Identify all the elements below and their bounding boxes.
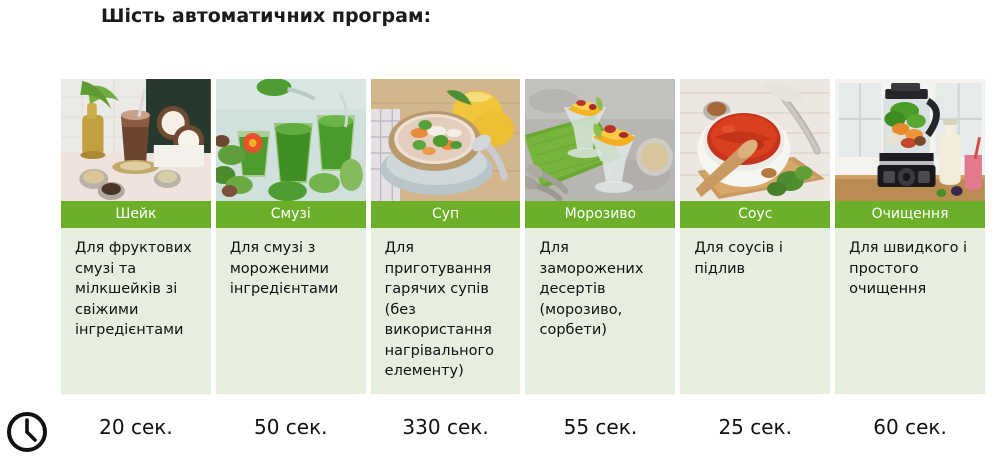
program-column-cleaning: Очищення Для швидкого і простого очищенн… [835,79,985,394]
program-label-shake: Шейк [61,201,211,228]
clock-icon [5,410,49,454]
program-label-soup: Суп [371,201,521,228]
program-table: Шейк Для фруктових смузі та мілкшейків з… [61,79,985,394]
creamy-soup-bowl-photo [371,79,521,201]
time-soup: 330 сек. [371,415,521,439]
time-smoothie: 50 сек. [216,415,366,439]
times-row: 20 сек. 50 сек. 330 сек. 55 сек. 25 сек.… [61,415,985,439]
program-description-icecream: Для заморожених десертів (морозиво, сорб… [525,228,675,394]
program-description-sauce: Для соусів і підлив [680,228,830,394]
page-title: Шість автоматичних програм: [101,5,431,27]
program-column-shake: Шейк Для фруктових смузі та мілкшейків з… [61,79,211,394]
program-column-sauce: Соус Для соусів і підлив [680,79,830,394]
program-label-sauce: Соус [680,201,830,228]
tomato-sauce-pot-photo [680,79,830,201]
mango-sorbet-dessert-photo [525,79,675,201]
chocolate-milkshake-photo [61,79,211,201]
time-sauce: 25 сек. [680,415,830,439]
time-cleaning: 60 сек. [835,415,985,439]
program-description-cleaning: Для швидкого і простого очищення [835,228,985,394]
program-label-cleaning: Очищення [835,201,985,228]
program-label-smoothie: Смузі [216,201,366,228]
time-shake: 20 сек. [61,415,211,439]
program-column-smoothie: Смузі Для смузі з мороженими інгредієнта… [216,79,366,394]
blender-appliance-photo [835,79,985,201]
program-description-shake: Для фруктових смузі та мілкшейків зі сві… [61,228,211,394]
program-label-icecream: Морозиво [525,201,675,228]
program-description-smoothie: Для смузі з мороженими інгредієнтами [216,228,366,394]
time-icecream: 55 сек. [525,415,675,439]
green-smoothie-glasses-photo [216,79,366,201]
program-description-soup: Для приготування гарячих супів (без вико… [371,228,521,394]
program-column-icecream: Морозиво Для заморожених десертів (мороз… [525,79,675,394]
program-column-soup: Суп Для приготування гарячих супів (без … [371,79,521,394]
